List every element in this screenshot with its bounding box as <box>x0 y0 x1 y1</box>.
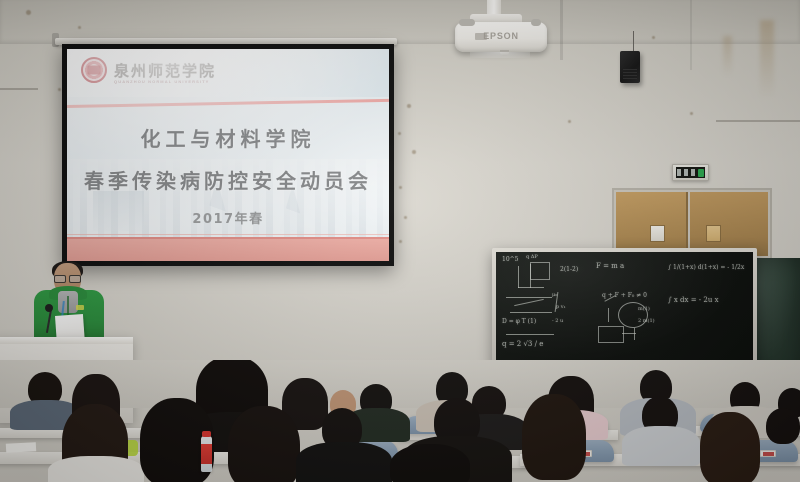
slide-accent-rule <box>67 99 389 108</box>
chalk-diagram-box <box>530 262 550 280</box>
chalk-note: m(1) <box>638 306 650 312</box>
slide-header-sheen <box>189 49 389 97</box>
chalk-stroke <box>510 312 552 313</box>
wall-stain-secondary <box>723 36 732 76</box>
bottle-cap <box>202 431 211 437</box>
wall-trim-line <box>716 120 800 122</box>
door-window-right <box>706 225 721 242</box>
audience-shoulders <box>296 442 392 482</box>
audience-shoulders <box>622 426 700 466</box>
chalk-note: 10^5 <box>502 256 518 263</box>
projector-beam <box>470 52 530 58</box>
wall-mark <box>398 132 401 135</box>
wall-stain <box>760 20 774 98</box>
chalk-note: - 2 u <box>552 318 563 324</box>
blackboard-surface: 10^5 q ΔP 2(1-2) F = m a ∫ 1/(1+x) d(1+x… <box>496 252 753 370</box>
lecture-hall-photo: EPSON 泉州师范学院 QUANZHOU NORMAL UNIVERSITY … <box>0 0 800 482</box>
slide-footer-hairline <box>67 234 389 235</box>
wall-mark <box>78 26 81 29</box>
exit-sign-face <box>676 167 705 178</box>
audience-hair <box>700 412 760 482</box>
slide-title-line2: 春季传染病防控安全动员会 <box>67 165 389 194</box>
audience-shoulders <box>48 456 144 482</box>
audience-head <box>766 408 800 444</box>
chalk-note: q + F + F₀ ≠ 0 <box>602 292 647 299</box>
glasses-icon <box>54 275 81 281</box>
wall-mark <box>26 10 31 15</box>
university-name-en: QUANZHOU NORMAL UNIVERSITY <box>114 79 209 84</box>
paper-on-desk <box>6 442 36 453</box>
projector: EPSON <box>455 22 547 52</box>
projection-screen: 泉州师范学院 QUANZHOU NORMAL UNIVERSITY 化工与材料学… <box>62 44 394 266</box>
chalk-stroke <box>518 266 519 288</box>
chalk-note: ∫ x dx = - 2u x <box>668 296 719 304</box>
wall-trim-line <box>0 88 38 90</box>
wall-mark <box>568 120 571 123</box>
slide-subtitle: 2017年春 <box>67 208 389 227</box>
projector-brand-label: EPSON <box>455 31 547 41</box>
audience-area <box>0 360 800 482</box>
chalk-stroke <box>506 297 552 298</box>
wall-mark <box>652 36 655 39</box>
speaker-grill-icon <box>623 69 637 79</box>
ceiling-seam <box>560 0 563 60</box>
exit-char-icon <box>691 169 695 176</box>
chalk-note: 2(1-2) <box>560 266 578 273</box>
wall-mark <box>407 104 411 108</box>
wall-mark <box>58 88 61 91</box>
chalk-note: D = φ T (1) <box>502 318 536 325</box>
door-panel-left[interactable] <box>616 192 688 256</box>
slide-title-block: 化工与材料学院 春季传染病防控安全动员会 2017年春 <box>67 123 389 227</box>
slide-footer-band <box>67 239 389 261</box>
emergency-exit-sign <box>672 164 709 181</box>
university-seal-icon <box>81 57 107 83</box>
microphone-icon[interactable] <box>45 304 53 312</box>
wall-mark <box>399 186 402 189</box>
chalk-note: q = 2 √3 / e <box>502 340 543 348</box>
ceiling-seam-secondary <box>690 0 692 70</box>
exit-char-icon <box>677 169 681 176</box>
podium-top-surface <box>0 337 133 344</box>
slide-title-line1: 化工与材料学院 <box>67 123 389 152</box>
presenter <box>32 263 106 343</box>
speaker-cable <box>633 31 634 52</box>
university-name-cn: 泉州师范学院 <box>114 60 216 81</box>
chalk-note: 2 m(1) <box>638 318 655 324</box>
slide-header: 泉州师范学院 QUANZHOU NORMAL UNIVERSITY <box>67 49 389 97</box>
seat-number-tag <box>760 450 776 457</box>
wall-speaker <box>620 51 640 83</box>
door-window-left <box>650 225 665 242</box>
chalk-stroke <box>634 328 635 340</box>
wall-mark <box>412 150 416 154</box>
blackboard: 10^5 q ΔP 2(1-2) F = m a ∫ 1/(1+x) d(1+x… <box>492 248 757 374</box>
chalk-note: ∫ 1/(1+x) d(1+x) = - 1/2x <box>668 264 744 271</box>
chalk-note: F = m a <box>596 262 624 270</box>
chalk-stroke <box>608 308 609 322</box>
audience-hair <box>522 394 586 480</box>
presentation-slide: 泉州师范学院 QUANZHOU NORMAL UNIVERSITY 化工与材料学… <box>67 49 389 261</box>
wall-mark <box>690 112 693 115</box>
chalk-note: p v₁ <box>556 304 566 310</box>
exit-char-icon <box>684 169 688 176</box>
chalk-note: q ΔP <box>526 254 538 260</box>
wall-mark <box>404 216 407 219</box>
running-man-icon <box>698 169 704 177</box>
bottle-label <box>201 444 212 464</box>
badge-icon <box>76 305 84 310</box>
wall-mark <box>399 240 402 243</box>
door-panel-right[interactable] <box>690 192 768 256</box>
audience-hair <box>228 406 300 482</box>
audience-hair <box>390 444 470 482</box>
chalk-stroke <box>506 334 554 335</box>
chalk-diagram-box <box>598 326 624 343</box>
chalk-note: μ₀ <box>552 292 557 298</box>
